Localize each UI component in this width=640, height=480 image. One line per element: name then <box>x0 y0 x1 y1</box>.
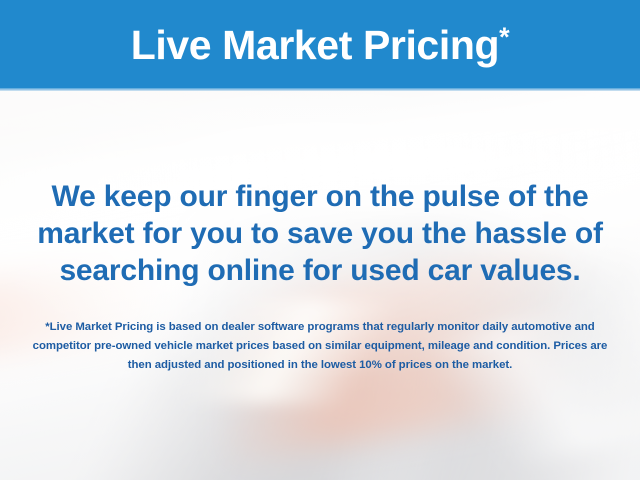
header-underline-divider <box>0 88 640 91</box>
page-title-text: Live Market Pricing <box>131 22 499 68</box>
page-title: Live Market Pricing* <box>131 25 509 66</box>
headline-text: We keep our finger on the pulse of the m… <box>22 178 618 289</box>
disclaimer-text: *Live Market Pricing is based on dealer … <box>30 318 610 376</box>
header-band: Live Market Pricing* <box>0 0 640 88</box>
live-market-pricing-banner: Live Market Pricing* We keep our finger … <box>0 0 640 480</box>
page-title-asterisk: * <box>499 22 509 52</box>
